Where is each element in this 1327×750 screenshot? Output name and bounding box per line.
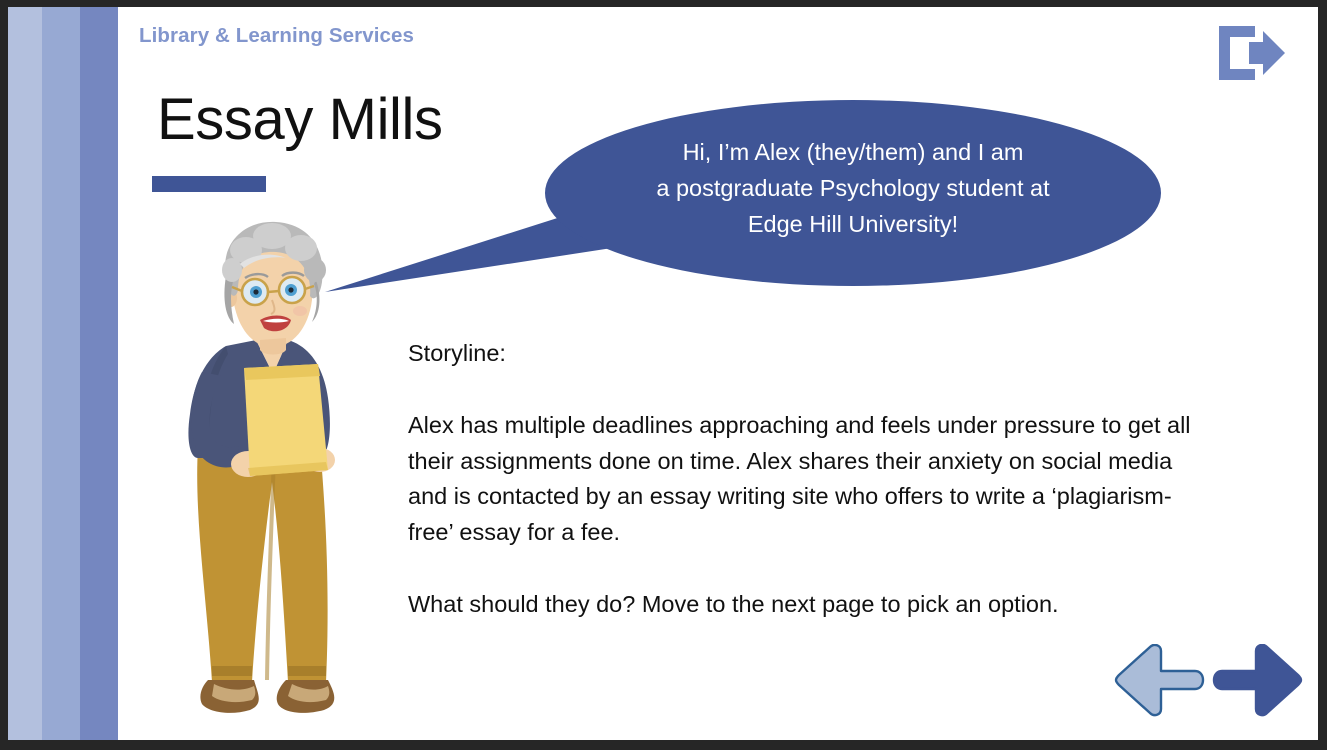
title-accent-bar bbox=[152, 176, 266, 192]
slide-border-top bbox=[0, 0, 1327, 7]
storyline-label: Storyline: bbox=[408, 336, 1208, 372]
decor-stripe-dark bbox=[80, 7, 118, 740]
slide-border-left bbox=[0, 0, 8, 750]
speech-bubble: Hi, I’m Alex (they/them) and I am a post… bbox=[325, 96, 1170, 301]
spacer bbox=[408, 372, 1208, 408]
bubble-line-1: Hi, I’m Alex (they/them) and I am bbox=[553, 134, 1153, 170]
decor-stripe-light bbox=[8, 7, 42, 740]
slide-canvas: Library & Learning Services Essay Mills … bbox=[0, 0, 1327, 750]
slide-border-right bbox=[1318, 0, 1327, 750]
speech-bubble-text: Hi, I’m Alex (they/them) and I am a post… bbox=[553, 134, 1153, 242]
next-arrow[interactable] bbox=[1214, 645, 1301, 715]
department-header: Library & Learning Services bbox=[139, 24, 414, 48]
slide-border-bottom bbox=[0, 740, 1327, 750]
storyline-block: Storyline: Alex has multiple deadlines a… bbox=[408, 336, 1208, 623]
decor-stripe-medium bbox=[42, 7, 80, 740]
spacer bbox=[408, 551, 1208, 587]
navigation-arrows bbox=[1110, 644, 1305, 726]
trousers bbox=[197, 446, 327, 682]
exit-icon[interactable] bbox=[1215, 22, 1289, 84]
head bbox=[222, 222, 326, 347]
bubble-line-3: Edge Hill University! bbox=[553, 206, 1153, 242]
folder bbox=[244, 364, 328, 476]
storyline-prompt: What should they do? Move to the next pa… bbox=[408, 587, 1208, 623]
storyline-paragraph: Alex has multiple deadlines approaching … bbox=[408, 408, 1208, 551]
shoes bbox=[200, 680, 334, 713]
previous-arrow[interactable] bbox=[1116, 645, 1203, 715]
bubble-line-2: a postgraduate Psychology student at bbox=[553, 170, 1153, 206]
